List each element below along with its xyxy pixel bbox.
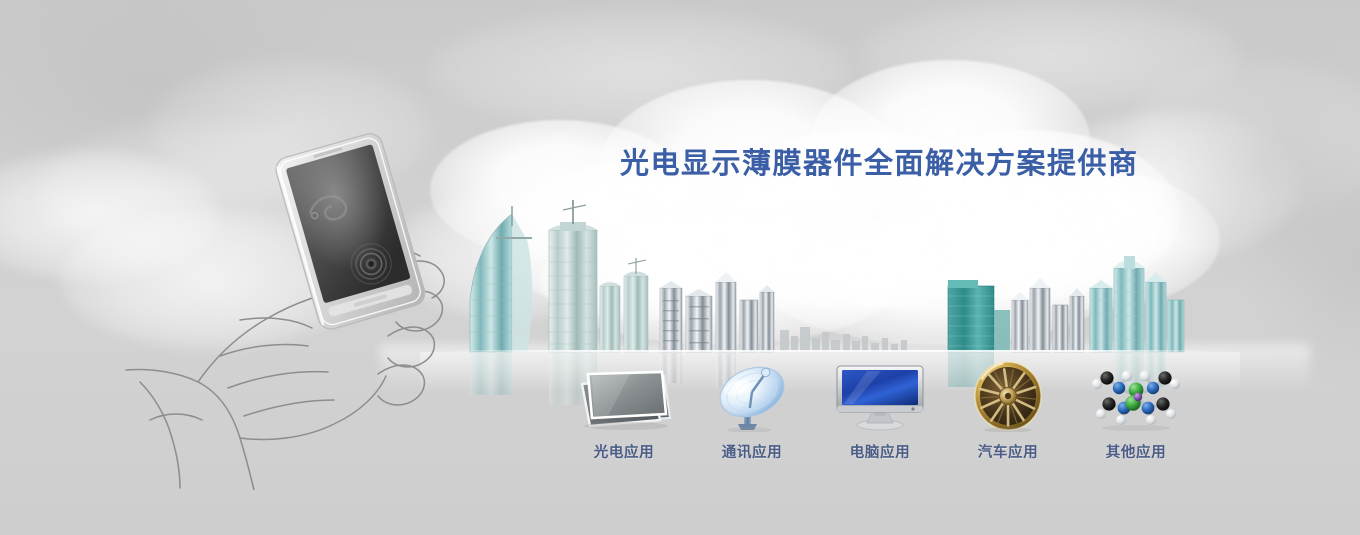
application-item-optoelectronic[interactable]: 光电应用 xyxy=(560,352,688,462)
application-item-communication[interactable]: 通讯应用 xyxy=(688,352,816,462)
glass-film-stack-icon xyxy=(560,362,688,432)
application-label: 汽车应用 xyxy=(978,441,1038,462)
application-item-computer[interactable]: 电脑应用 xyxy=(816,352,944,462)
molecule-model-icon xyxy=(1072,362,1200,432)
satellite-dish-icon xyxy=(688,362,816,432)
application-icon-row: 光电应用 xyxy=(560,352,1200,462)
hand-holding-smartphone-sketch xyxy=(120,120,500,490)
computer-monitor-icon xyxy=(816,362,944,432)
car-wheel-rim-icon xyxy=(944,362,1072,432)
application-item-other[interactable]: 其他应用 xyxy=(1072,352,1200,462)
application-label: 光电应用 xyxy=(594,441,654,462)
application-label: 通讯应用 xyxy=(722,441,782,462)
page-title: 光电显示薄膜器件全面解决方案提供商 xyxy=(620,140,1139,182)
application-label: 其他应用 xyxy=(1106,441,1166,462)
application-label: 电脑应用 xyxy=(850,441,910,462)
application-item-automotive[interactable]: 汽车应用 xyxy=(944,352,1072,462)
hero-banner: 光电显示薄膜器件全面解决方案提供商 xyxy=(0,0,1360,535)
